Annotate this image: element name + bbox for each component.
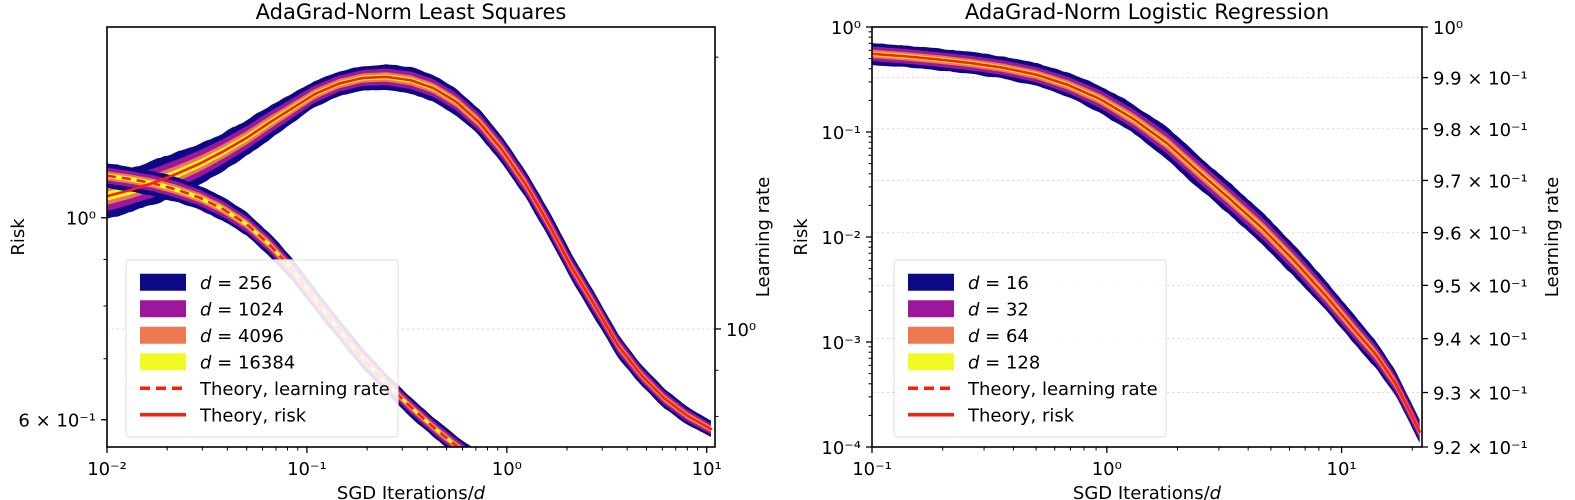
chart-panel-logistic-regression: 10⁻¹10⁰10¹10⁰10⁻¹10⁻²10⁻³10⁻⁴10⁰9.9 × 10… (785, 0, 1575, 500)
y-right-tick-label: 9.6 × 10⁻¹ (1433, 224, 1528, 245)
legend-swatch (908, 353, 954, 370)
y-right-tick-label: 9.7 × 10⁻¹ (1433, 171, 1528, 192)
legend-swatch (908, 274, 954, 291)
legend-label: d = 32 (968, 299, 1029, 320)
legend-label: d = 16384 (200, 352, 295, 373)
chart-title: AdaGrad-Norm Least Squares (256, 0, 567, 24)
figure-root: 10⁻²10⁻¹10⁰10¹10⁰6 × 10⁻¹10⁰AdaGrad-Norm… (0, 0, 1575, 500)
legend-swatch (908, 300, 954, 317)
y-tick-label: 10⁰ (831, 18, 861, 39)
legend-label: d = 256 (200, 273, 272, 294)
legend-swatch (140, 274, 186, 291)
x-tick-label: 10⁰ (492, 459, 522, 480)
y-tick-label: 10⁻¹ (821, 123, 861, 144)
legend-label: d = 128 (968, 352, 1040, 373)
legend-label: Theory, learning rate (967, 379, 1158, 400)
y-tick-label: 10⁰ (66, 209, 96, 230)
x-tick-label: 10⁰ (1092, 459, 1122, 480)
x-tick-label: 10⁻¹ (852, 459, 892, 480)
x-axis-label: SGD Iterations/d (1073, 483, 1222, 500)
legend-label: Theory, risk (199, 405, 307, 426)
y-right-tick-label: 10⁰ (1433, 18, 1463, 39)
y-right-tick-label: 9.2 × 10⁻¹ (1433, 438, 1528, 459)
x-axis-label: SGD Iterations/d (337, 483, 486, 500)
y-axis-right-label: Learning rate (753, 177, 774, 297)
y-right-tick-label: 9.5 × 10⁻¹ (1433, 276, 1528, 297)
y-tick-label: 10⁻³ (821, 333, 861, 354)
x-tick-label: 10⁻¹ (287, 459, 327, 480)
y-right-tick-label: 9.9 × 10⁻¹ (1433, 69, 1528, 90)
y-tick-label: 10⁻⁴ (821, 438, 861, 459)
legend-label: d = 16 (968, 273, 1029, 294)
y-right-tick-label: 9.8 × 10⁻¹ (1433, 120, 1528, 141)
y-axis-right-label: Learning rate (1542, 177, 1563, 297)
legend-label: Theory, risk (967, 405, 1075, 426)
legend: d = 256d = 1024d = 4096d = 16384Theory, … (126, 260, 398, 437)
chart-title: AdaGrad-Norm Logistic Regression (965, 0, 1329, 24)
legend-label: d = 64 (968, 326, 1029, 347)
y-tick-label: 10⁻² (821, 228, 861, 249)
x-tick-label: 10¹ (1327, 459, 1357, 480)
chart-panel-least-squares: 10⁻²10⁻¹10⁰10¹10⁰6 × 10⁻¹10⁰AdaGrad-Norm… (0, 0, 790, 500)
legend-swatch (140, 353, 186, 370)
y-right-tick-label: 9.3 × 10⁻¹ (1433, 384, 1528, 405)
legend-label: d = 4096 (200, 326, 284, 347)
legend-swatch (140, 327, 186, 344)
y-right-tick-label: 10⁰ (726, 320, 756, 341)
legend-label: d = 1024 (200, 299, 284, 320)
legend-label: Theory, learning rate (199, 379, 390, 400)
y-right-tick-label: 9.4 × 10⁻¹ (1433, 330, 1528, 351)
y-axis-label: Risk (8, 218, 29, 256)
y-tick-label: 6 × 10⁻¹ (18, 411, 96, 432)
y-axis-label: Risk (791, 218, 812, 256)
legend-swatch (908, 327, 954, 344)
legend: d = 16d = 32d = 64d = 128Theory, learnin… (894, 260, 1166, 437)
x-tick-label: 10¹ (692, 459, 722, 480)
x-tick-label: 10⁻² (87, 459, 127, 480)
legend-swatch (140, 300, 186, 317)
